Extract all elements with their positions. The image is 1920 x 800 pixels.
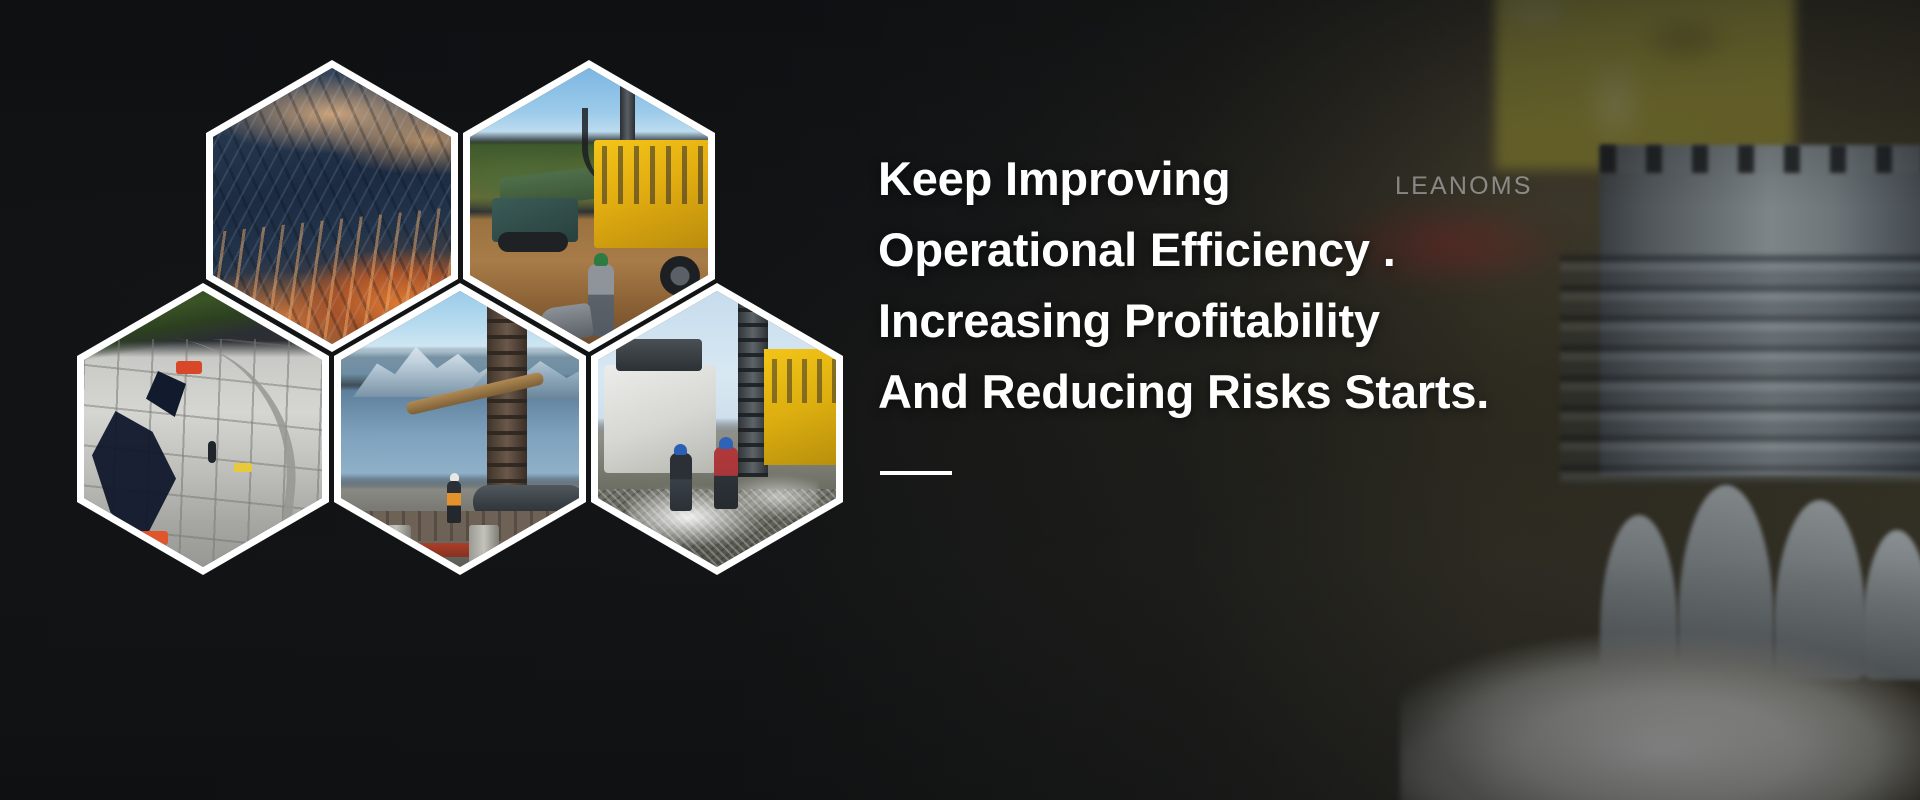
pile-driver-tower — [487, 303, 527, 515]
headline-line-2: Operational Efficiency . — [878, 214, 1888, 285]
support-unit-cabinet — [604, 365, 716, 473]
truck-wheel — [660, 256, 700, 296]
orange-excavator — [138, 531, 168, 545]
concrete-piling — [381, 525, 411, 567]
open-pit-mine-photo — [213, 68, 451, 344]
drill-rig-crew-photo — [470, 68, 708, 344]
hexagon-image-frame — [598, 291, 836, 567]
headline-divider-rule — [880, 471, 952, 475]
yellow-drill-rig — [764, 349, 836, 465]
hero-copy-block: Keep Improving Operational Efficiency . … — [878, 143, 1888, 475]
water-spray-drilling-photo — [598, 291, 836, 567]
hexagon-image-frame — [341, 291, 579, 567]
lakeside-pile-driver-photo — [341, 291, 579, 567]
hexagon-image-frame — [84, 291, 322, 567]
wheel-loader — [492, 198, 578, 242]
headline-line-4: And Reducing Risks Starts. — [878, 356, 1888, 427]
worker-red-jacket — [714, 447, 738, 509]
worker-dark-jacket — [670, 453, 692, 511]
red-excavator — [176, 361, 202, 374]
concrete-piling — [469, 525, 499, 567]
headline-line-1: Keep Improving — [878, 143, 1888, 214]
stone-quarry-photo — [84, 291, 322, 567]
yellow-machine — [234, 463, 252, 472]
hero-headline: Keep Improving Operational Efficiency . … — [878, 143, 1888, 427]
quarry-worker-figure — [208, 441, 216, 463]
hero-banner: LEANOMS — [0, 0, 1920, 800]
red-barge-hull — [341, 543, 579, 557]
yellow-rig-body — [594, 140, 708, 248]
headline-line-3: Increasing Profitability — [878, 285, 1888, 356]
hexagon-photo-cluster — [0, 0, 880, 800]
hexagon-image-frame — [213, 68, 451, 344]
dock-worker-hi-vis — [447, 481, 461, 523]
concrete-piling — [531, 525, 561, 567]
cabinet-roof-unit — [616, 339, 702, 371]
hexagon-image-frame — [470, 68, 708, 344]
